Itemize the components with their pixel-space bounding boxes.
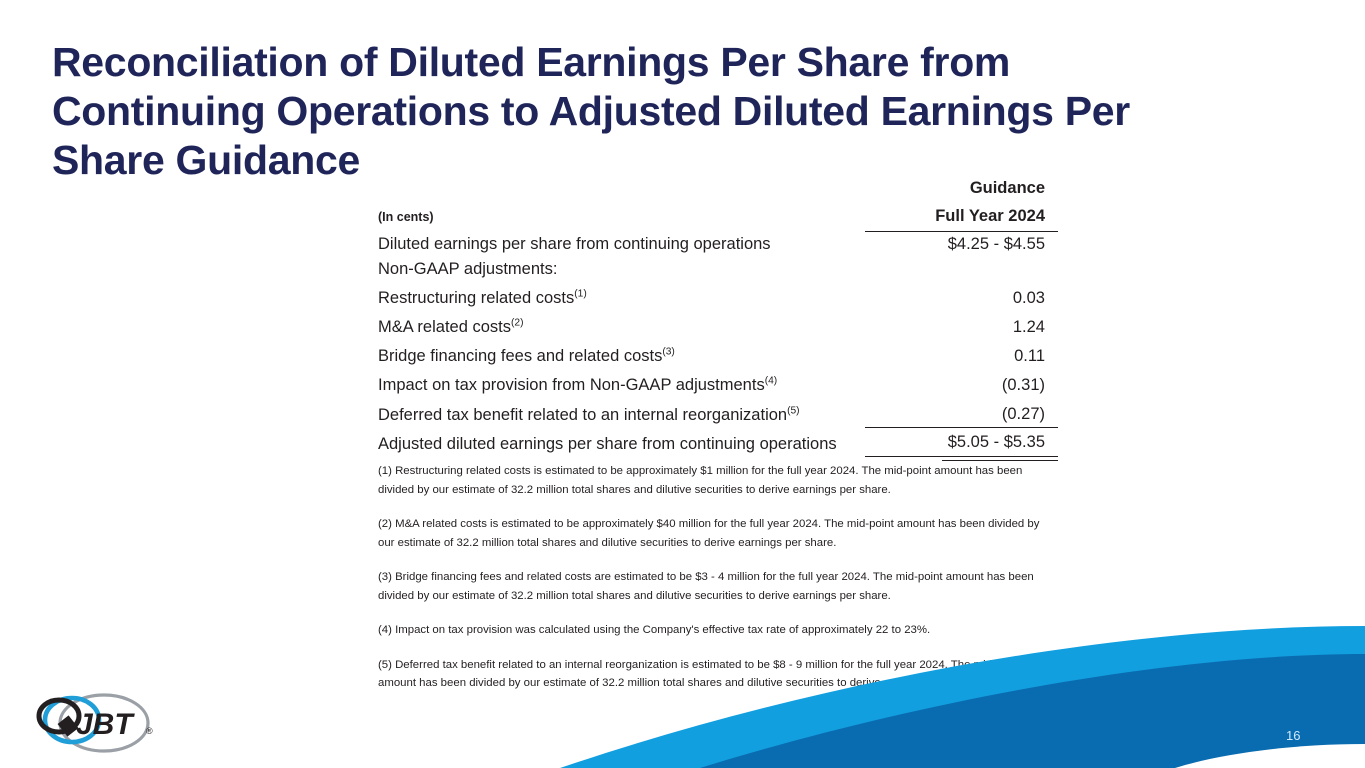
row-value: 1.24 — [865, 315, 1058, 340]
footnote-item: (4) Impact on tax provision was calculat… — [378, 621, 1056, 640]
jbt-logo: JBT ® — [28, 692, 168, 754]
table-total-row: Adjusted diluted earnings per share from… — [378, 428, 1058, 457]
row-label-text: Deferred tax benefit related to an inter… — [378, 406, 787, 424]
row-label: Impact on tax provision from Non-GAAP ad… — [378, 373, 865, 398]
total-row-label: Adjusted diluted earnings per share from… — [378, 428, 865, 457]
row-label-text: M&A related costs — [378, 318, 511, 336]
table-row: Bridge financing fees and related costs(… — [378, 344, 1058, 369]
table-body: Guidance (In cents) Full Year 2024 Dilut… — [378, 176, 1058, 461]
column-header-full-year: Full Year 2024 — [865, 204, 1058, 232]
reconciliation-table: Guidance (In cents) Full Year 2024 Dilut… — [378, 176, 1058, 461]
table-header-row-year: (In cents) Full Year 2024 — [378, 204, 1058, 232]
row-label: Non-GAAP adjustments: — [378, 257, 865, 282]
logo-wordmark: JBT — [76, 708, 135, 741]
table-row: Impact on tax provision from Non-GAAP ad… — [378, 373, 1058, 398]
wave-white-sliver — [1175, 744, 1365, 768]
footnote-ref: (5) — [787, 405, 800, 416]
row-label-text: Non-GAAP adjustments: — [378, 260, 557, 278]
table-row: Deferred tax benefit related to an inter… — [378, 402, 1058, 428]
footnote-item: (3) Bridge financing fees and related co… — [378, 568, 1056, 605]
footnote-ref: (1) — [574, 289, 587, 300]
total-row-label-text: Adjusted diluted earnings per share from… — [378, 435, 837, 453]
row-value: (0.27) — [865, 402, 1058, 428]
units-label: (In cents) — [378, 204, 865, 232]
table-row: Diluted earnings per share from continui… — [378, 232, 1058, 258]
row-value: (0.31) — [865, 373, 1058, 398]
table: Guidance (In cents) Full Year 2024 Dilut… — [378, 176, 1058, 461]
underline-bar — [942, 457, 1058, 461]
underline-spacer — [378, 457, 865, 462]
row-value — [865, 257, 1058, 282]
table-row: M&A related costs(2) 1.24 — [378, 315, 1058, 340]
row-label: Restructuring related costs(1) — [378, 286, 865, 311]
slide-canvas: Reconciliation of Diluted Earnings Per S… — [0, 0, 1365, 768]
row-label: M&A related costs(2) — [378, 315, 865, 340]
table-row: Non-GAAP adjustments: — [378, 257, 1058, 282]
footnote-item: (5) Deferred tax benefit related to an i… — [378, 656, 1056, 693]
footnote-ref: (3) — [662, 347, 675, 358]
page-number: 16 — [1286, 728, 1300, 743]
row-label-text: Diluted earnings per share from continui… — [378, 235, 771, 253]
footnotes-block: (1) Restructuring related costs is estim… — [378, 462, 1056, 693]
row-label-text: Bridge financing fees and related costs — [378, 347, 662, 365]
page-title: Reconciliation of Diluted Earnings Per S… — [52, 38, 1212, 185]
row-value: 0.11 — [865, 344, 1058, 369]
row-label: Deferred tax benefit related to an inter… — [378, 402, 865, 428]
row-label-text: Restructuring related costs — [378, 289, 574, 307]
row-value: $4.25 - $4.55 — [865, 232, 1058, 258]
row-label: Bridge financing fees and related costs(… — [378, 344, 865, 369]
total-double-underline — [378, 457, 1058, 462]
table-header-row-guidance: Guidance — [378, 176, 1058, 204]
total-row-value: $5.05 - $5.35 — [865, 428, 1058, 457]
table-row: Restructuring related costs(1) 0.03 — [378, 286, 1058, 311]
footnote-item: (2) M&A related costs is estimated to be… — [378, 515, 1056, 552]
header-spacer-cell — [378, 176, 865, 204]
footnote-item: (1) Restructuring related costs is estim… — [378, 462, 1056, 499]
row-label-text: Impact on tax provision from Non-GAAP ad… — [378, 376, 765, 394]
row-label: Diluted earnings per share from continui… — [378, 232, 865, 258]
footnote-ref: (2) — [511, 318, 524, 329]
underline-bar-cell — [865, 457, 1058, 462]
logo-registered-icon: ® — [146, 726, 153, 736]
column-header-guidance: Guidance — [865, 176, 1058, 204]
footnote-ref: (4) — [765, 376, 778, 387]
row-value: 0.03 — [865, 286, 1058, 311]
